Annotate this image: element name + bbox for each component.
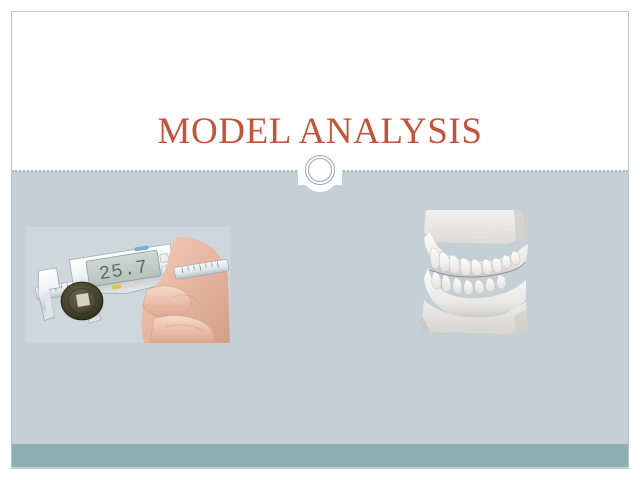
page-title: MODEL ANALYSIS bbox=[12, 110, 628, 154]
title-zone: MODEL ANALYSIS bbox=[12, 12, 628, 171]
divider bbox=[12, 164, 628, 178]
ring-inner-circle-icon bbox=[308, 158, 332, 182]
slide: MODEL ANALYSIS Hand holding a digital ve… bbox=[0, 0, 640, 480]
caliper-illustration: 25.7 bbox=[26, 227, 230, 343]
image-caliper: Hand holding a digital vernier caliper m… bbox=[26, 227, 230, 343]
dental-model-illustration bbox=[410, 204, 537, 338]
image-dental-model: Dental plaster study model of upper and … bbox=[410, 204, 537, 338]
accent-band bbox=[12, 444, 628, 467]
